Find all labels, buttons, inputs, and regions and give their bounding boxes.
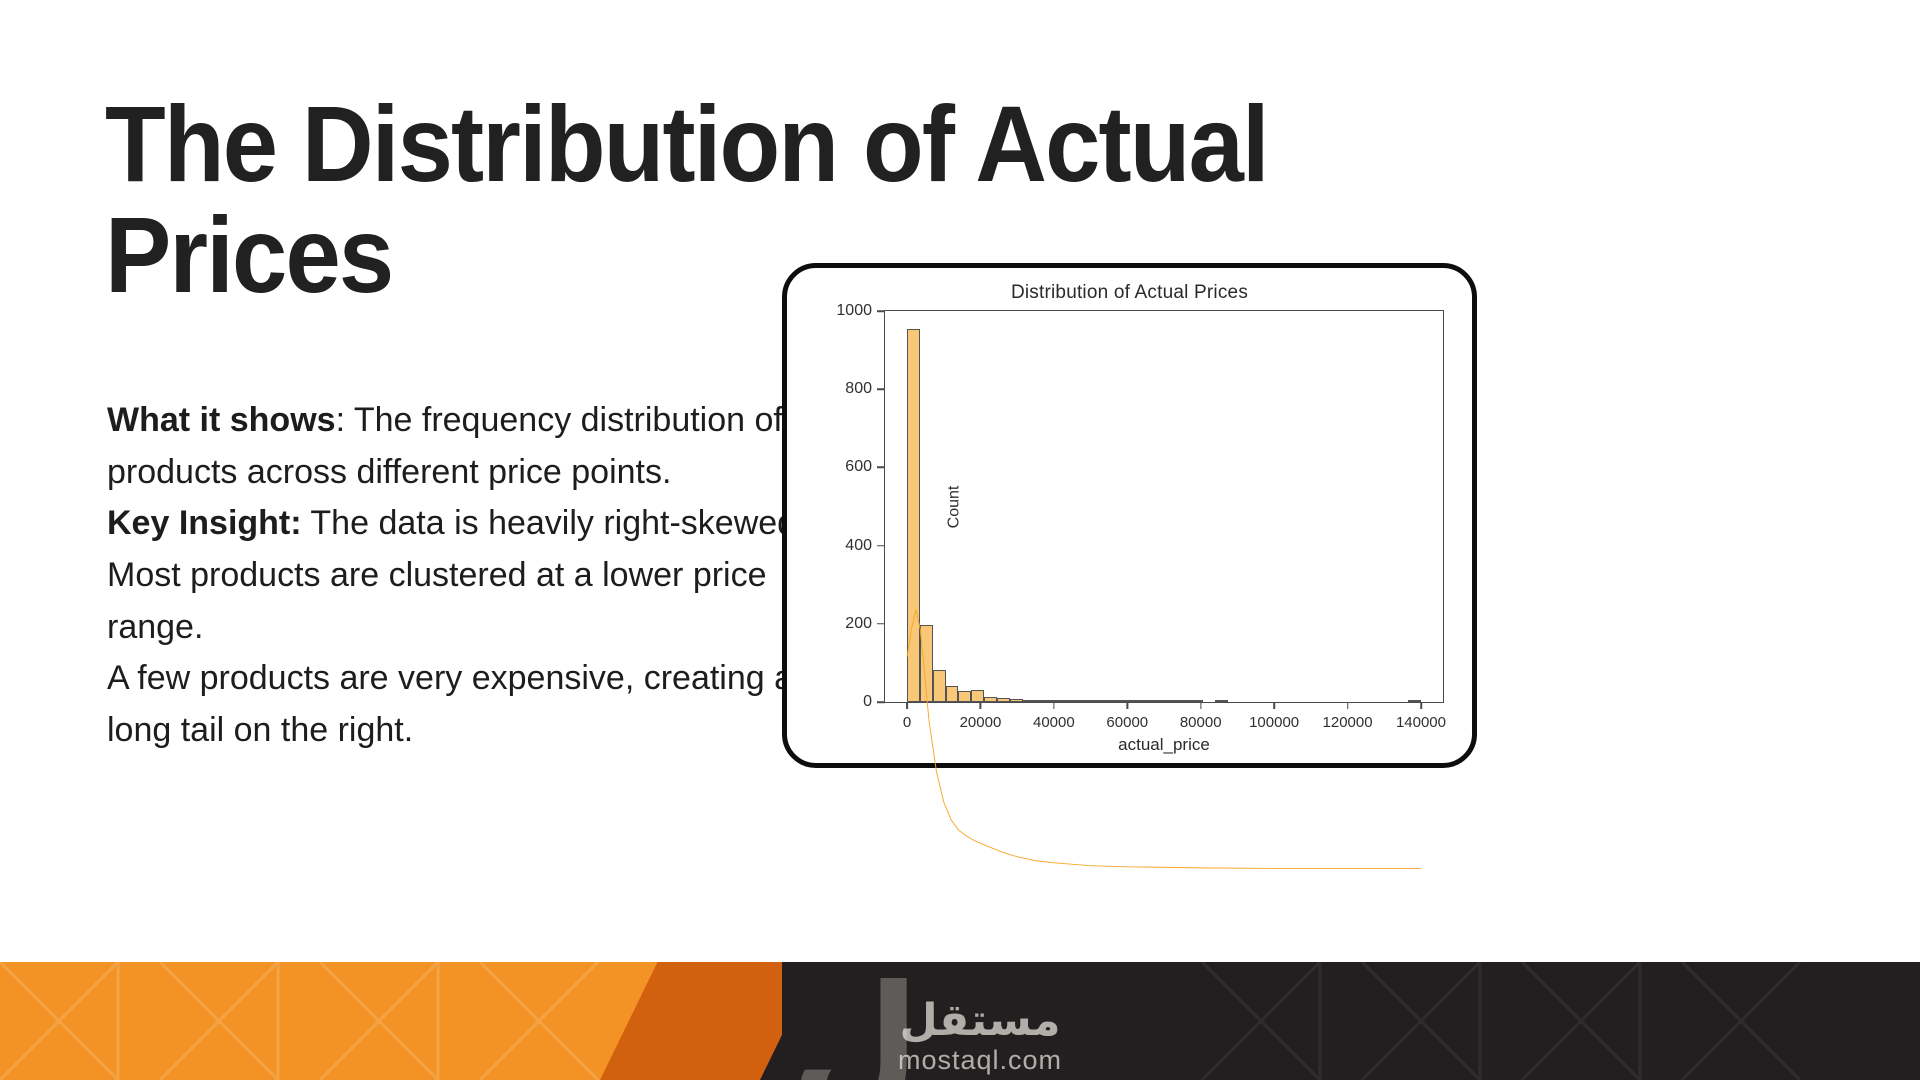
kde-line: [907, 610, 1421, 869]
slide: The Distribution of Actual Prices What i…: [0, 0, 1920, 1080]
watermark-arabic: مستقل: [845, 999, 1115, 1043]
kde-curve: [885, 311, 1443, 869]
body-line-2-lead: Key Insight:: [107, 504, 302, 542]
watermark-domain: mostaql.com: [845, 1047, 1115, 1074]
plot-area: Count 02004006008001000 0200004000060000…: [884, 310, 1444, 703]
y-tick-label: 600: [845, 458, 885, 476]
y-tick-label: 800: [845, 380, 885, 398]
y-tick-label: 200: [845, 615, 885, 633]
body-line-2: Key Insight: The data is heavily right-s…: [107, 498, 807, 550]
body-line-3: Most products are clustered at a lower p…: [107, 550, 807, 653]
chart-title: Distribution of Actual Prices: [787, 282, 1472, 304]
y-tick-label: 1000: [836, 302, 885, 320]
body-line-2-rest: The data is heavily right-skewed.: [302, 504, 806, 542]
body-line-1-lead: What it shows: [107, 401, 336, 439]
decorative-band: ل مستقل mostaql.com: [0, 962, 1920, 1080]
y-tick-label: 400: [845, 537, 885, 555]
body-copy: What it shows: The frequency distributio…: [107, 395, 807, 757]
y-tick-label: 0: [863, 693, 885, 711]
body-line-1: What it shows: The frequency distributio…: [107, 395, 807, 498]
chart-card: Distribution of Actual Prices Count 0200…: [782, 263, 1477, 768]
watermark: مستقل mostaql.com: [845, 999, 1115, 1074]
chart-inner: Distribution of Actual Prices Count 0200…: [787, 268, 1472, 763]
body-line-4: A few products are very expensive, creat…: [107, 653, 807, 756]
